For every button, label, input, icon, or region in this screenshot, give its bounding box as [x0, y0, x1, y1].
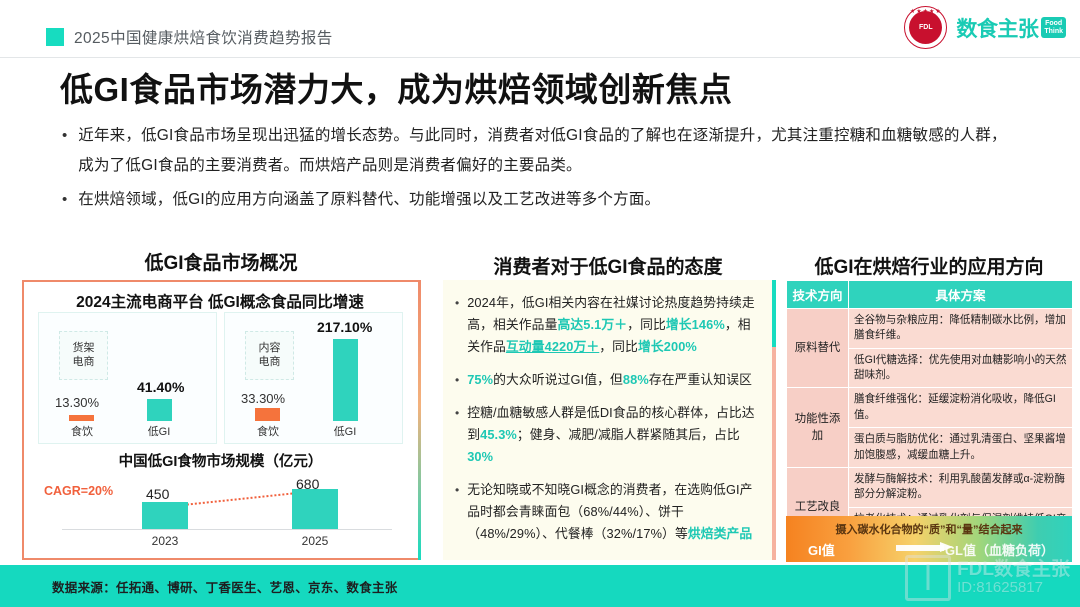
footer-bar: 数据来源：任拓通、博研、丁香医生、艺恩、京东、数食主张: [0, 565, 1080, 607]
highlight-run: 30%: [467, 449, 493, 464]
middle-card-edge: [772, 280, 776, 560]
chart-2-title: 中国低GI食物市场规模（亿元）: [38, 450, 403, 471]
text-run: 存在严重认知误区: [649, 372, 752, 387]
table-header-cell-scheme: 具体方案: [849, 281, 1073, 309]
attitude-bullet-item: •2024年，低GI相关内容在社媒讨论热度趋势持续走高，相关作品量高达5.1万＋…: [455, 292, 761, 358]
chart-1-group-shelf: 货架 电商 13.30% 食饮 41.40% 低GI: [38, 312, 217, 444]
highlight-run: 45.3%: [480, 427, 517, 442]
group-tag-line2: 电商: [259, 356, 281, 370]
group-tag-content: 内容 电商: [245, 331, 294, 380]
text-run: ，同比: [627, 317, 666, 332]
slide-root: 2025中国健康烘焙食饮消费趋势报告 ★★★★★ FDL 数食主张 Food T…: [0, 0, 1080, 607]
attitude-bullet-text: 无论知晓或不知晓GI概念的消费者，在选购低GI产品时都会青睐面包（68%/44%…: [467, 479, 761, 545]
lead-bullet-item: • 近年来，低GI食品市场呈现出迅猛的增长态势。与此同时，消费者对低GI食品的了…: [62, 121, 1022, 181]
chart-2-axis-line: [62, 529, 392, 530]
table-row: 工艺改良发酵与酶解技术：利用乳酸菌发酵或α-淀粉酶部分分解淀粉。: [787, 467, 1073, 507]
chart-1-value-shelf-food: 13.30%: [55, 395, 99, 410]
chart-1-cat-content-lowgi: 低GI: [318, 423, 372, 439]
chart-2-bar-2025: [292, 489, 338, 529]
chart-1-bar-shelf-lowgi: [147, 399, 172, 421]
table-cell-scheme: 低GI代糖选择：优先使用对血糖影响小的天然甜味剂。: [849, 348, 1073, 388]
attitude-bullet-item: •无论知晓或不知晓GI概念的消费者，在选购低GI产品时都会青睐面包（68%/44…: [455, 479, 761, 545]
chart-2-annotation: CAGR=20%: [44, 484, 113, 498]
bullet-dot-icon: •: [455, 292, 459, 314]
chart-1-value-shelf-lowgi: 41.40%: [137, 379, 184, 395]
table-cell-scheme: 发酵与酶解技术：利用乳酸菌发酵或α-淀粉酶部分分解淀粉。: [849, 467, 1073, 507]
company-emblem-icon: ★★★★★ FDL: [904, 6, 947, 49]
report-kicker: 2025中国健康烘焙食饮消费趋势报告: [46, 26, 333, 48]
chart-2-bar-2023: [142, 502, 188, 529]
lead-bullets: • 近年来，低GI食品市场呈现出迅猛的增长态势。与此同时，消费者对低GI食品的了…: [62, 121, 1022, 219]
chart-1-cat-shelf-food: 食饮: [55, 423, 109, 439]
group-tag-shelf: 货架 电商: [59, 331, 108, 380]
chart-2-value-2023: 450: [146, 486, 169, 502]
highlight-run: 增长200%: [638, 339, 697, 354]
gradient-bar-left-label: GI值: [808, 540, 835, 559]
bullet-dot-icon: •: [455, 369, 459, 391]
lead-bullet-item: • 在烘焙领域，低GI的应用方向涵盖了原料替代、功能增强以及工艺改进等多个方面。: [62, 185, 1022, 215]
lead-bullet-text: 近年来，低GI食品市场呈现出迅猛的增长态势。与此同时，消费者对低GI食品的了解也…: [78, 121, 1022, 181]
page-title: 低GI食品市场潜力大，成为烘焙领域创新焦点: [60, 63, 732, 111]
text-run: ，同比: [599, 339, 638, 354]
gi-gl-gradient-bar: 摄入碳水化合物的“质”和“量”结合起来 GI值 GL值（血糖负荷）: [786, 516, 1072, 562]
accent-square-icon: [46, 28, 64, 46]
left-card-gradient-edge: [418, 280, 421, 560]
attitude-bullet-item: •控糖/血糖敏感人群是低DI食品的核心群体，占比达到45.3%；健身、减肥/减脂…: [455, 402, 761, 468]
chart-1-cat-shelf-lowgi: 低GI: [132, 423, 186, 439]
highlight-run: 互动量4220万＋: [506, 339, 599, 354]
bullet-dot-icon: •: [62, 185, 67, 215]
highlight-run: 88%: [623, 372, 649, 387]
table-header-row: 技术方向 具体方案: [787, 281, 1073, 309]
table-cell-category: 功能性添加: [787, 388, 849, 467]
group-tag-line1: 内容: [259, 342, 281, 356]
highlight-run: 高达5.1万＋: [557, 317, 627, 332]
section-heading-left: 低GI食品市场概况: [22, 248, 420, 275]
chart-2-cat-2023: 2023: [142, 534, 188, 548]
group-tag-line2: 电商: [73, 356, 95, 370]
gradient-bar-caption: 摄入碳水化合物的“质”和“量”结合起来: [786, 521, 1072, 537]
data-source-label: 数据来源：任拓通、博研、丁香医生、艺恩、京东、数食主张: [52, 577, 398, 596]
table-cell-category: 原料替代: [787, 309, 849, 388]
bullet-dot-icon: •: [455, 479, 459, 501]
chart-1-value-content-lowgi: 217.10%: [317, 319, 372, 335]
text-run: 的大众听说过GI值，但: [493, 372, 623, 387]
chart-2-cat-2025: 2025: [292, 534, 338, 548]
chart-1-value-content-food: 33.30%: [241, 391, 285, 406]
attitude-bullet-text: 75%的大众听说过GI值，但88%存在严重认知误区: [467, 369, 752, 391]
chart-1-bar-content-food: [255, 408, 280, 421]
table-header-cell-direction: 技术方向: [787, 281, 849, 309]
brand-badge-icon: Food Think: [1041, 17, 1066, 38]
report-kicker-label: 2025中国健康烘焙食饮消费趋势报告: [74, 26, 333, 48]
section-heading-middle: 消费者对于低GI食品的态度: [443, 252, 773, 279]
highlight-run: 75%: [467, 372, 493, 387]
chart-1-title: 2024主流电商平台 低GI概念食品同比增速: [22, 290, 418, 312]
chart-1-cat-content-food: 食饮: [241, 423, 295, 439]
highlight-run: 增长146%: [666, 317, 725, 332]
consumer-attitude-list: •2024年，低GI相关内容在社媒讨论热度趋势持续走高，相关作品量高达5.1万＋…: [455, 292, 761, 556]
section-heading-right: 低GI在烘焙行业的应用方向: [786, 252, 1072, 279]
group-tag-line1: 货架: [73, 342, 95, 356]
attitude-bullet-text: 控糖/血糖敏感人群是低DI食品的核心群体，占比达到45.3%；健身、减肥/减脂人…: [467, 402, 761, 468]
table-cell-scheme: 全谷物与杂粮应用：降低精制碳水比例，增加膳食纤维。: [849, 309, 1073, 349]
lead-bullet-text: 在烘焙领域，低GI的应用方向涵盖了原料替代、功能增强以及工艺改进等多个方面。: [78, 185, 660, 215]
table-cell-scheme: 膳食纤维强化：延缓淀粉消化吸收，降低GI值。: [849, 388, 1073, 428]
brand-wordmark: 数食主张 Food Think: [956, 13, 1066, 43]
attitude-bullet-item: •75%的大众听说过GI值，但88%存在严重认知误区: [455, 369, 761, 391]
brand-name: 数食主张: [956, 13, 1038, 43]
table-row: 功能性添加膳食纤维强化：延缓淀粉消化吸收，降低GI值。: [787, 388, 1073, 428]
brand-logo: ★★★★★ FDL 数食主张 Food Think: [904, 6, 1066, 49]
chart-2-plot: CAGR=20% 450 2023 680 2025: [38, 470, 403, 550]
chart-1-group-content: 内容 电商 33.30% 食饮 217.10% 低GI: [224, 312, 403, 444]
application-direction-table: 技术方向 具体方案 原料替代全谷物与杂粮应用：降低精制碳水比例，增加膳食纤维。低…: [786, 280, 1073, 547]
chart-1-bar-content-lowgi: [333, 339, 358, 421]
text-run: ；健身、减肥/减脂人群紧随其后，占比: [517, 427, 740, 442]
header-divider: [0, 57, 1080, 58]
attitude-bullet-text: 2024年，低GI相关内容在社媒讨论热度趋势持续走高，相关作品量高达5.1万＋，…: [467, 292, 761, 358]
table-cell-scheme: 蛋白质与脂肪优化：通过乳清蛋白、坚果酱增加饱腹感，减缓血糖上升。: [849, 428, 1073, 468]
chart-1-bar-shelf-food: [69, 415, 94, 421]
bullet-dot-icon: •: [455, 402, 459, 424]
highlight-run: 烘焙类产品: [688, 526, 752, 541]
gradient-bar-right-label: GL值（血糖负荷）: [945, 540, 1054, 559]
table-row: 原料替代全谷物与杂粮应用：降低精制碳水比例，增加膳食纤维。: [787, 309, 1073, 349]
bullet-dot-icon: •: [62, 121, 67, 151]
header-bar: 2025中国健康烘焙食饮消费趋势报告 ★★★★★ FDL 数食主张 Food T…: [0, 0, 1080, 58]
